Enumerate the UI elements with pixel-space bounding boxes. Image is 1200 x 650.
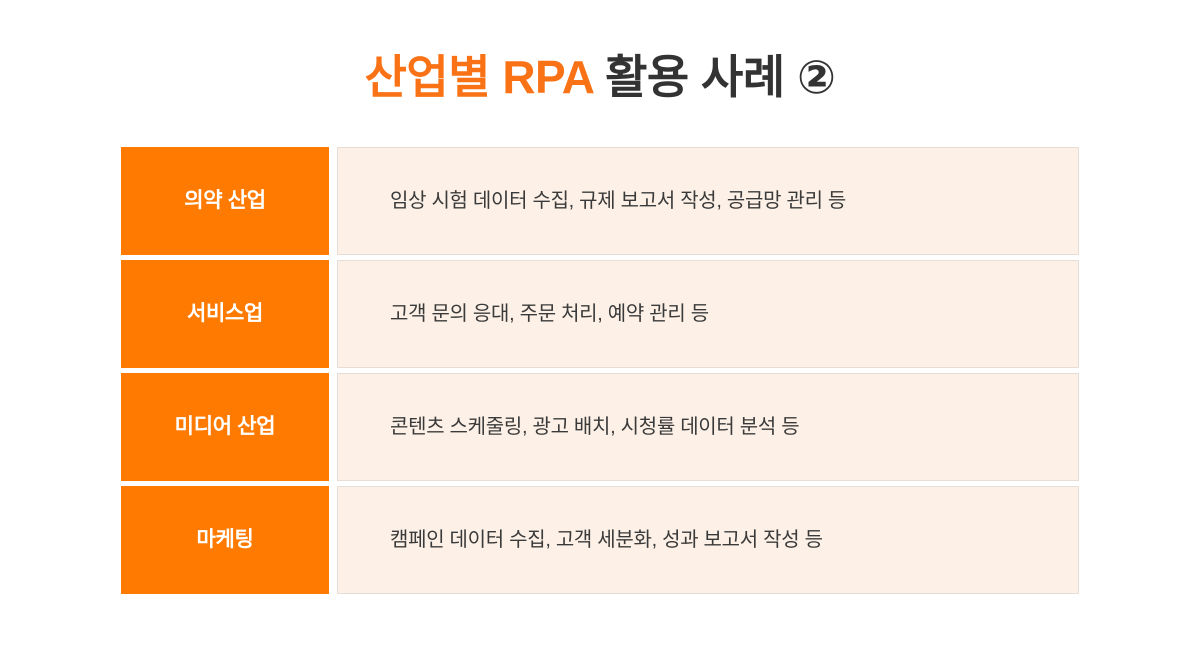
table-row: 의약 산업 임상 시험 데이터 수집, 규제 보고서 작성, 공급망 관리 등 [121,147,1079,255]
table-row: 미디어 산업 콘텐츠 스케줄링, 광고 배치, 시청률 데이터 분석 등 [121,373,1079,481]
category-cell-pharma: 의약 산업 [121,147,329,255]
row-spacer [329,260,337,368]
description-text: 콘텐츠 스케줄링, 광고 배치, 시청률 데이터 분석 등 [390,413,799,441]
industry-table: 의약 산업 임상 시험 데이터 수집, 규제 보고서 작성, 공급망 관리 등 … [121,147,1079,594]
description-cell-service: 고객 문의 응대, 주문 처리, 예약 관리 등 [337,260,1079,368]
row-spacer [329,147,337,255]
description-text: 고객 문의 응대, 주문 처리, 예약 관리 등 [390,300,709,328]
description-text: 임상 시험 데이터 수집, 규제 보고서 작성, 공급망 관리 등 [390,187,846,215]
category-cell-media: 미디어 산업 [121,373,329,481]
table-row: 서비스업 고객 문의 응대, 주문 처리, 예약 관리 등 [121,260,1079,368]
page-title-accent: 산업별 RPA [365,51,593,103]
page-title-plain: 활용 사례 ② [593,51,836,103]
category-cell-service: 서비스업 [121,260,329,368]
row-spacer [329,486,337,594]
description-cell-media: 콘텐츠 스케줄링, 광고 배치, 시청률 데이터 분석 등 [337,373,1079,481]
page-title-text: 산업별 RPA 활용 사례 ② [365,52,836,103]
slide-canvas: 산업별 RPA 활용 사례 ② 의약 산업 임상 시험 데이터 수집, 규제 보… [0,0,1200,650]
description-cell-marketing: 캠페인 데이터 수집, 고객 세분화, 성과 보고서 작성 등 [337,486,1079,594]
category-label: 미디어 산업 [175,414,276,439]
description-cell-pharma: 임상 시험 데이터 수집, 규제 보고서 작성, 공급망 관리 등 [337,147,1079,255]
category-label: 마케팅 [196,527,253,552]
description-text: 캠페인 데이터 수집, 고객 세분화, 성과 보고서 작성 등 [390,526,823,554]
category-cell-marketing: 마케팅 [121,486,329,594]
page-title: 산업별 RPA 활용 사례 ② [0,52,1200,103]
category-label: 의약 산업 [184,188,266,213]
row-spacer [329,373,337,481]
category-label: 서비스업 [187,301,263,326]
table-row: 마케팅 캠페인 데이터 수집, 고객 세분화, 성과 보고서 작성 등 [121,486,1079,594]
